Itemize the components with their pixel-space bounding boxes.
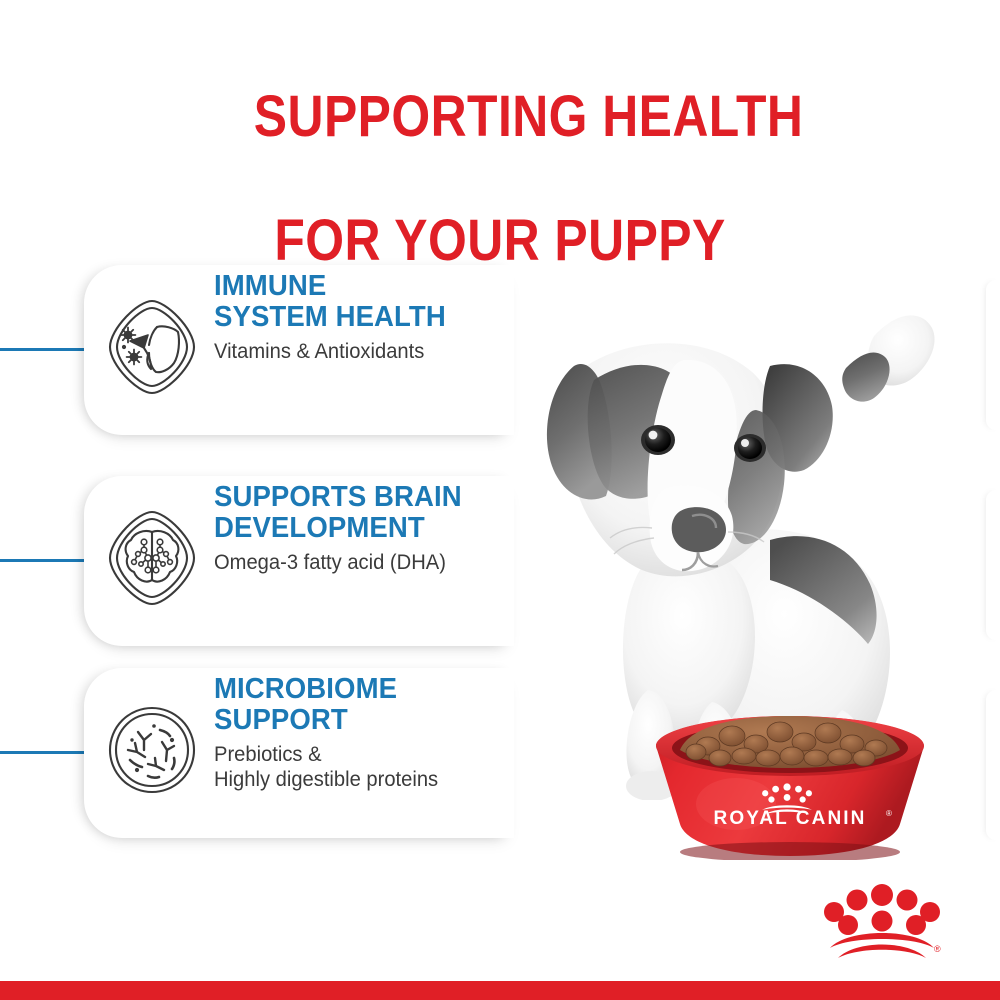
benefit-heading: SUPPORTS BRAIN DEVELOPMENT: [214, 482, 499, 544]
benefit-card-microbiome: MICROBIOME SUPPORT Prebiotics & Highly d…: [84, 668, 514, 838]
card-edge-hint-1: [986, 280, 1000, 430]
shield-germ-icon: [104, 295, 200, 399]
benefit-heading: IMMUNE SYSTEM HEALTH: [214, 271, 499, 333]
benefit-subtitle: Omega-3 fatty acid (DHA): [214, 550, 502, 575]
connector-line-3: [0, 751, 86, 754]
benefit-card-brain: SUPPORTS BRAIN DEVELOPMENT Omega-3 fatty…: [84, 476, 514, 646]
royal-canin-crown-logo: ®: [822, 880, 942, 960]
benefit-text-brain: SUPPORTS BRAIN DEVELOPMENT Omega-3 fatty…: [214, 482, 514, 575]
benefit-heading: MICROBIOME SUPPORT: [214, 674, 499, 736]
card-edge-hint-3: [986, 690, 1000, 840]
brain-icon: [104, 506, 200, 610]
footer-bar: [0, 981, 1000, 1000]
microbiome-icon: [104, 698, 200, 802]
royal-canin-food-bowl: ROYAL CANIN ®: [650, 700, 930, 860]
page-title-line1: SUPPORTING HEALTH: [254, 84, 804, 149]
card-edge-hint-2: [986, 490, 1000, 640]
benefit-subtitle: Vitamins & Antioxidants: [214, 339, 502, 364]
bowl-trademark: ®: [886, 809, 892, 818]
logo-trademark: ®: [934, 944, 941, 954]
connector-line-2: [0, 559, 86, 562]
benefit-card-immune: IMMUNE SYSTEM HEALTH Vitamins & Antioxid…: [84, 265, 514, 435]
benefit-text-immune: IMMUNE SYSTEM HEALTH Vitamins & Antioxid…: [214, 271, 514, 364]
benefit-subtitle: Prebiotics & Highly digestible proteins: [214, 742, 502, 792]
infographic-canvas: SUPPORTING HEALTH FOR YOUR PUPPY: [0, 0, 1000, 1000]
connector-line-1: [0, 348, 86, 351]
bowl-brand-text: ROYAL CANIN: [714, 808, 867, 829]
benefit-text-microbiome: MICROBIOME SUPPORT Prebiotics & Highly d…: [214, 674, 514, 792]
